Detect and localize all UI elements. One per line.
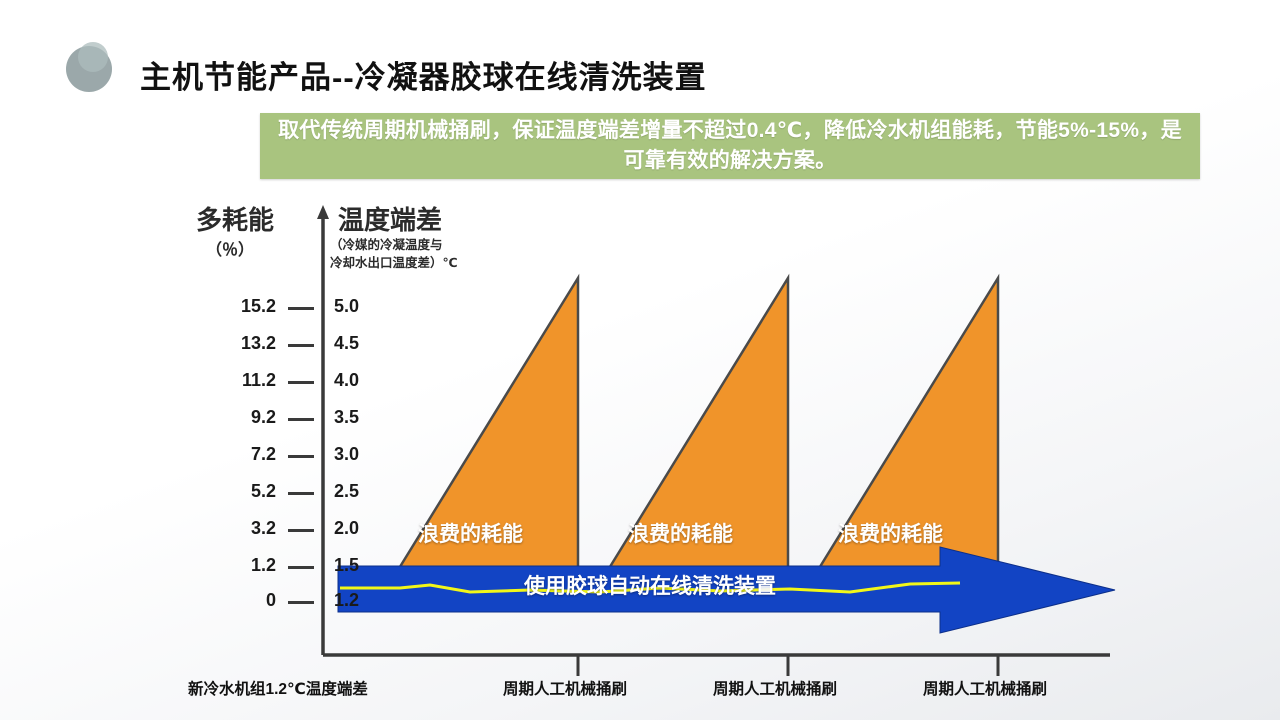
cleaning-device-label: 使用胶球自动在线清洗装置 <box>524 570 776 600</box>
waste-label-1: 浪费的耗能 <box>418 518 523 548</box>
right-tick-0: 5.0 <box>334 296 394 317</box>
left-tick-0: 15.2 <box>206 296 276 317</box>
tick-mark-2 <box>288 381 314 384</box>
right-tick-8: 1.2 <box>334 590 394 611</box>
category-label-2: 周期人工机械捅刷 <box>713 677 837 699</box>
chart-canvas <box>0 0 1280 720</box>
right-tick-5: 2.5 <box>334 481 394 502</box>
right-tick-7: 1.5 <box>334 555 394 576</box>
right-tick-6: 2.0 <box>334 518 394 539</box>
right-tick-1: 4.5 <box>334 333 394 354</box>
left-tick-6: 3.2 <box>206 518 276 539</box>
left-tick-4: 7.2 <box>206 444 276 465</box>
category-label-3: 周期人工机械捅刷 <box>923 677 1047 699</box>
tick-mark-1 <box>288 344 314 347</box>
tick-mark-5 <box>288 492 314 495</box>
right-tick-2: 4.0 <box>334 370 394 391</box>
slide: 主机节能产品--冷凝器胶球在线清洗装置 取代传统周期机械捅刷，保证温度端差增量不… <box>0 0 1280 720</box>
right-tick-4: 3.0 <box>334 444 394 465</box>
left-tick-2: 11.2 <box>206 370 276 391</box>
tick-mark-7 <box>288 566 314 569</box>
left-tick-1: 13.2 <box>206 333 276 354</box>
tick-mark-0 <box>288 307 314 310</box>
y-axis-arrow <box>317 205 329 219</box>
category-label-1: 周期人工机械捅刷 <box>503 677 627 699</box>
category-label-0: 新冷水机组1.2℃温度端差 <box>188 677 368 699</box>
tick-mark-6 <box>288 529 314 532</box>
waste-label-2: 浪费的耗能 <box>628 518 733 548</box>
tick-mark-8 <box>288 601 314 604</box>
left-tick-3: 9.2 <box>206 407 276 428</box>
right-tick-3: 3.5 <box>334 407 394 428</box>
left-tick-5: 5.2 <box>206 481 276 502</box>
tick-mark-4 <box>288 455 314 458</box>
left-tick-8: 0 <box>206 590 276 611</box>
tick-mark-3 <box>288 418 314 421</box>
left-tick-7: 1.2 <box>206 555 276 576</box>
waste-label-3: 浪费的耗能 <box>838 518 943 548</box>
